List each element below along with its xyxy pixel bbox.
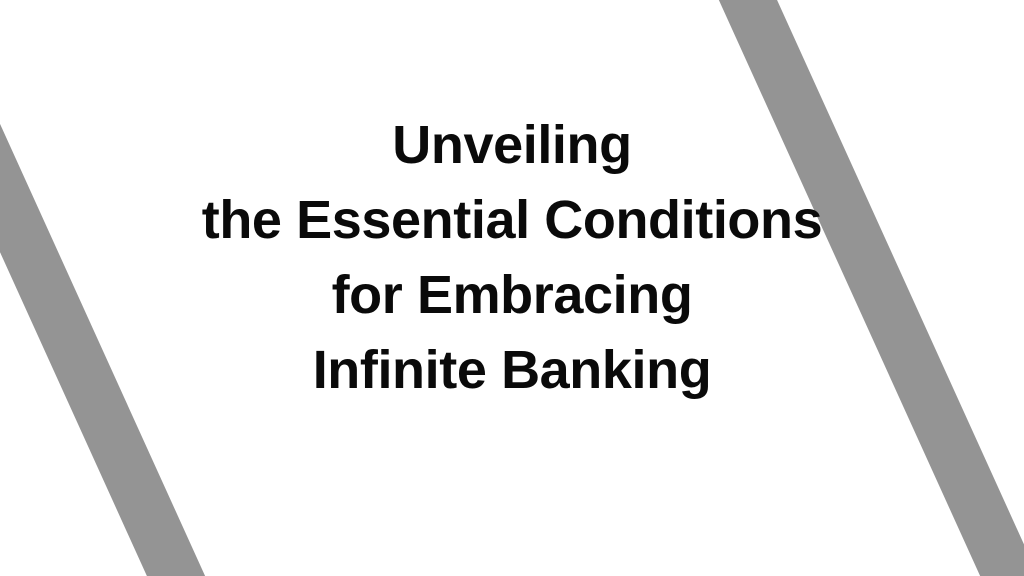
title-line-4: Infinite Banking xyxy=(0,333,1024,408)
title-line-3: for Embracing xyxy=(0,258,1024,333)
title-line-2: the Essential Conditions xyxy=(0,183,1024,258)
title-line-1: Unveiling xyxy=(0,108,1024,183)
page-title: Unveiling the Essential Conditions for E… xyxy=(0,0,1024,408)
slide-canvas: Unveiling the Essential Conditions for E… xyxy=(0,0,1024,576)
